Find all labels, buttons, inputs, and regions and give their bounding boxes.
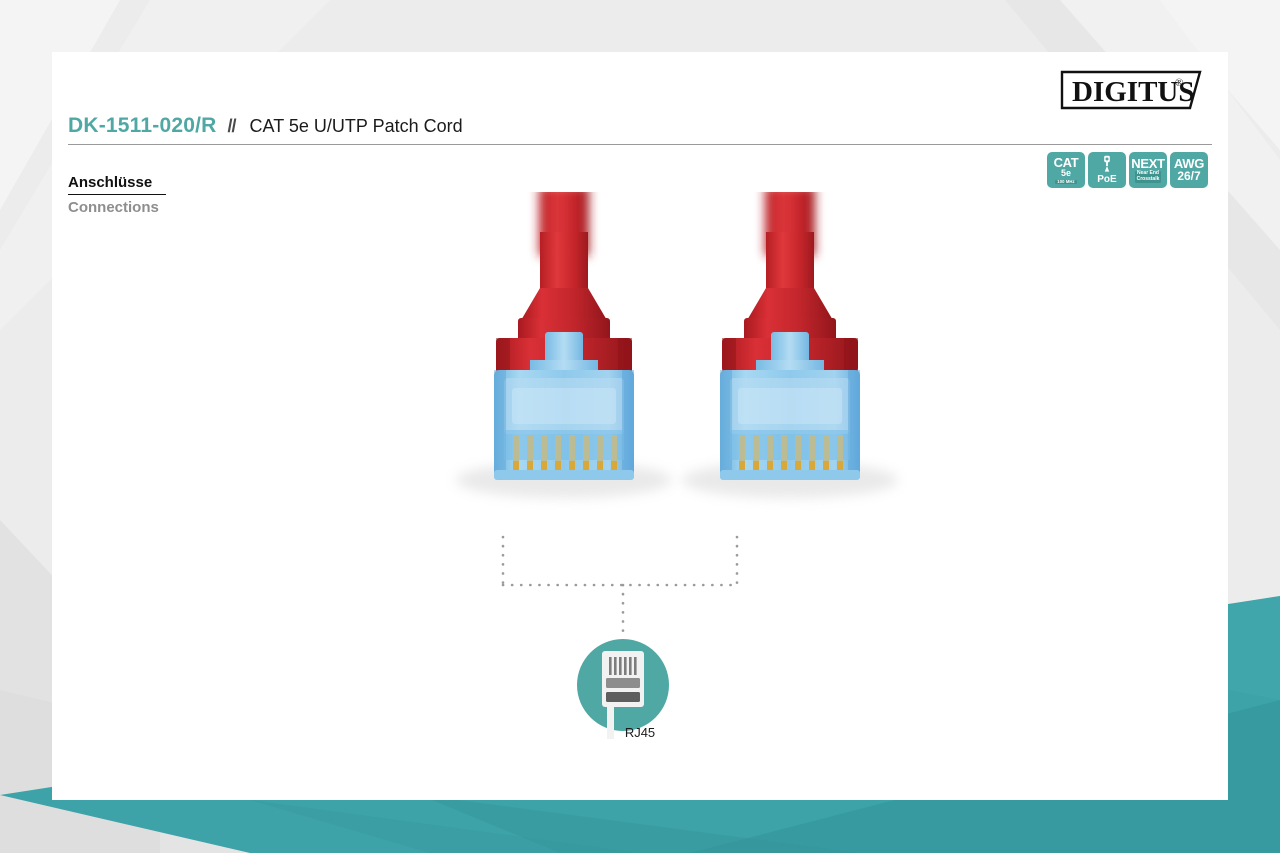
title-divider [68, 144, 1212, 145]
callout-graphics [52, 507, 1228, 747]
title-separator: // [228, 116, 236, 137]
connector-right [682, 192, 898, 498]
logo-registered-icon: ® [1175, 77, 1183, 89]
poe-plug-icon [1101, 155, 1113, 173]
product-image [52, 192, 1228, 542]
badge-awg: AWG 26/7 [1170, 152, 1208, 188]
badge-next: NEXT Near End Crosstalk [1129, 152, 1167, 188]
badge-poe-label: PoE [1097, 175, 1116, 185]
product-name: CAT 5e U/UTP Patch Cord [250, 116, 463, 137]
datasheet-card: DIGITUS ® DK-1511-020/R // CAT 5e U/UTP … [52, 52, 1228, 800]
patch-cord-connectors [52, 192, 1228, 542]
rj45-label: RJ45 [52, 725, 1228, 740]
rj45-callout: RJ45 [52, 507, 1228, 767]
badge-poe: PoE [1088, 152, 1126, 188]
badge-awg-line1: AWG [1174, 157, 1204, 170]
product-sku: DK-1511-020/R [68, 114, 217, 138]
feature-badges: CAT 5e 100 MHz PoE NEXT Near End Crossta… [1047, 152, 1208, 188]
title-row: DK-1511-020/R // CAT 5e U/UTP Patch Cord [68, 114, 1212, 138]
callout-leader-lines [503, 537, 737, 635]
rj45-icon-badge [577, 639, 669, 739]
badge-cat5e-line2: 5e [1061, 169, 1071, 178]
badge-next-line1: NEXT [1131, 157, 1164, 170]
digitus-logo: DIGITUS ® [1058, 66, 1204, 112]
connector-left [456, 192, 672, 498]
badge-cat5e: CAT 5e 100 MHz [1047, 152, 1085, 188]
badge-cat5e-line3: 100 MHz [1055, 180, 1076, 185]
badge-cat5e-line1: CAT [1054, 156, 1079, 169]
badge-awg-line2: 26/7 [1177, 170, 1200, 183]
badge-next-line3: Near End Crosstalk [1135, 171, 1162, 183]
